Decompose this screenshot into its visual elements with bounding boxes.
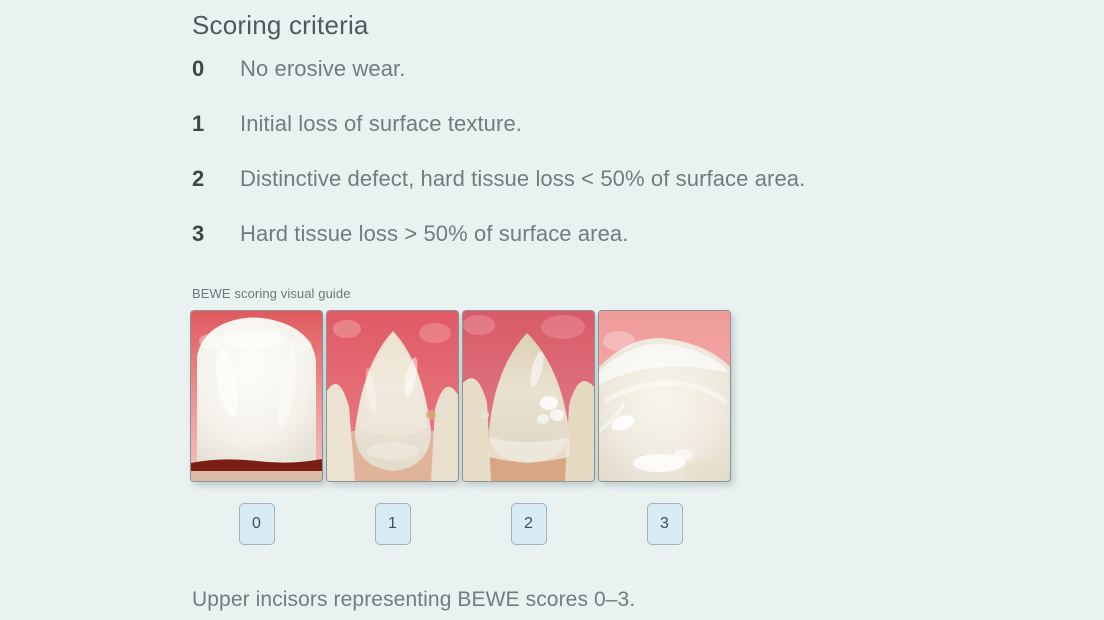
figure-caption: Upper incisors representing BEWE scores … [192,588,635,612]
criteria-score: 1 [192,111,240,137]
criteria-row: 0 No erosive wear. [192,56,1012,111]
tooth-photo-score-1 [326,310,459,482]
criteria-text: Initial loss of surface texture. [240,111,522,137]
page-title: Scoring criteria [192,10,369,41]
score-badge-cell: 3 [598,503,731,545]
score-badge-strip: 0 1 2 3 [190,503,731,545]
score-badge-cell: 1 [326,503,459,545]
criteria-row: 3 Hard tissue loss > 50% of surface area… [192,221,1012,276]
criteria-row: 2 Distinctive defect, hard tissue loss <… [192,166,1012,221]
slide-root: Scoring criteria 0 No erosive wear. 1 In… [0,0,1104,620]
tooth-image-3 [599,311,730,481]
criteria-score: 3 [192,221,240,247]
tooth-photo-score-2 [462,310,595,482]
figure-label: BEWE scoring visual guide [192,286,351,301]
tooth-image-2 [463,311,594,481]
tooth-image-1 [327,311,458,481]
tooth-photo-score-0 [190,310,323,482]
criteria-text: Hard tissue loss > 50% of surface area. [240,221,628,247]
score-badge-2[interactable]: 2 [511,503,547,545]
criteria-score: 0 [192,56,240,82]
criteria-text: Distinctive defect, hard tissue loss < 5… [240,166,805,192]
tooth-photo-score-3 [598,310,731,482]
score-badge-0[interactable]: 0 [239,503,275,545]
criteria-text: No erosive wear. [240,56,405,82]
criteria-score: 2 [192,166,240,192]
tooth-photo-strip [190,310,731,482]
score-badge-cell: 2 [462,503,595,545]
score-badge-1[interactable]: 1 [375,503,411,545]
score-badge-3[interactable]: 3 [647,503,683,545]
tooth-image-0 [191,311,322,481]
score-badge-cell: 0 [190,503,323,545]
criteria-row: 1 Initial loss of surface texture. [192,111,1012,166]
scoring-criteria-list: 0 No erosive wear. 1 Initial loss of sur… [192,56,1012,276]
